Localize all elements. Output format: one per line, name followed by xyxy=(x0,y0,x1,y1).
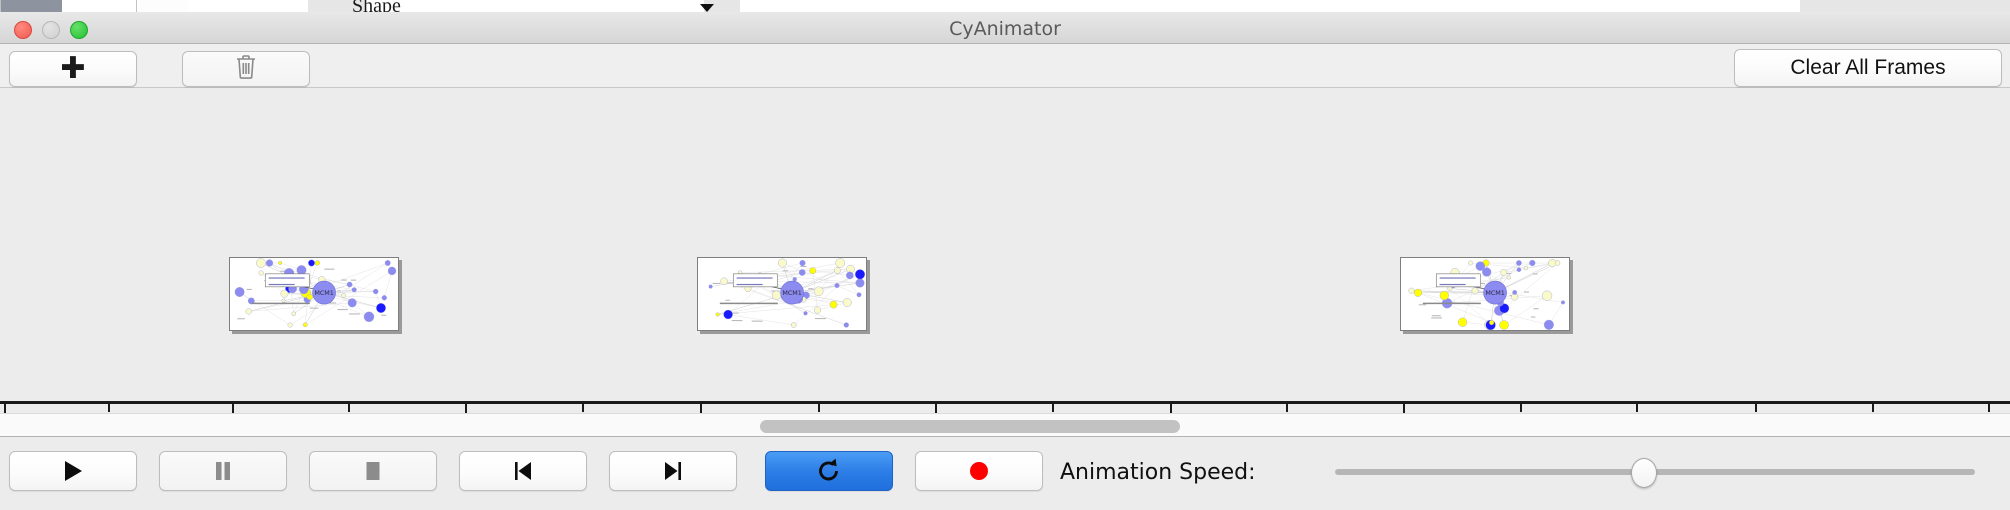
bg-chip xyxy=(0,0,1,12)
delete-frame-button[interactable] xyxy=(182,51,310,87)
play-icon xyxy=(62,459,84,483)
axis-tick-minor xyxy=(1872,401,1874,412)
axis-tick-minor xyxy=(1286,401,1288,412)
next-button[interactable] xyxy=(609,451,737,491)
timeline-scrollbar[interactable] xyxy=(0,413,2010,437)
record-icon xyxy=(967,459,991,483)
loop-icon xyxy=(817,458,841,484)
axis-tick-minor xyxy=(348,401,350,412)
svg-text:MCM1: MCM1 xyxy=(314,289,334,297)
clear-all-frames-label: Clear All Frames xyxy=(1790,56,1945,80)
timeline-frame-thumbnail[interactable]: MCM1 xyxy=(697,257,867,331)
skip-forward-icon xyxy=(662,459,684,483)
svg-text:MCM1: MCM1 xyxy=(782,289,802,297)
record-button[interactable] xyxy=(915,451,1043,491)
axis-tick-minor xyxy=(1520,401,1522,412)
axis-tick-minor xyxy=(1052,401,1054,412)
skip-back-icon xyxy=(512,459,534,483)
clear-all-frames-button[interactable]: Clear All Frames xyxy=(1734,49,2002,87)
stop-button[interactable] xyxy=(309,451,437,491)
axis-tick-minor xyxy=(1988,401,1990,412)
svg-text:MCM1: MCM1 xyxy=(1485,289,1505,297)
pause-button[interactable] xyxy=(159,451,287,491)
animation-speed-slider-thumb[interactable] xyxy=(1631,458,1657,488)
play-button[interactable] xyxy=(9,451,137,491)
bg-chip xyxy=(0,0,63,12)
bg-chip xyxy=(778,0,1801,12)
toolbar: ✚ Clear All Frames xyxy=(0,44,2010,88)
bg-chip xyxy=(364,0,705,12)
bg-chip xyxy=(740,0,779,12)
axis-tick-minor xyxy=(1636,401,1638,412)
pause-icon xyxy=(213,459,233,483)
timeline-frame-thumbnail[interactable]: MCM1 xyxy=(229,257,399,331)
loop-button[interactable] xyxy=(765,451,893,491)
plus-icon: ✚ xyxy=(60,54,85,84)
titlebar: CyAnimator xyxy=(0,12,2010,44)
stop-icon xyxy=(363,459,383,483)
trash-icon xyxy=(235,54,257,85)
scrollbar-thumb[interactable] xyxy=(760,420,1180,433)
window-title: CyAnimator xyxy=(0,18,2010,40)
bg-chip xyxy=(1800,0,2010,12)
axis-tick-minor xyxy=(582,401,584,412)
axis-tick-minor xyxy=(1755,401,1757,412)
timeline-frame-thumbnail[interactable]: MCM1 xyxy=(1400,257,1570,331)
playback-controls: Animation Speed: xyxy=(0,438,2010,510)
timeline-panel[interactable]: MCM1MCM1MCM1 2131415161718 Seconds xyxy=(0,88,2010,414)
bg-chip xyxy=(62,0,137,12)
cyanimator-window: Shape CyAnimator ✚ xyxy=(0,0,2010,510)
axis-tick-minor xyxy=(818,401,820,412)
bg-chip xyxy=(188,0,309,12)
timeline-axis xyxy=(0,401,2010,404)
axis-tick-minor xyxy=(108,401,110,412)
previous-button[interactable] xyxy=(459,451,587,491)
background-caret-icon xyxy=(700,4,714,12)
add-frame-button[interactable]: ✚ xyxy=(9,51,137,87)
animation-speed-label: Animation Speed: xyxy=(1060,460,1256,485)
